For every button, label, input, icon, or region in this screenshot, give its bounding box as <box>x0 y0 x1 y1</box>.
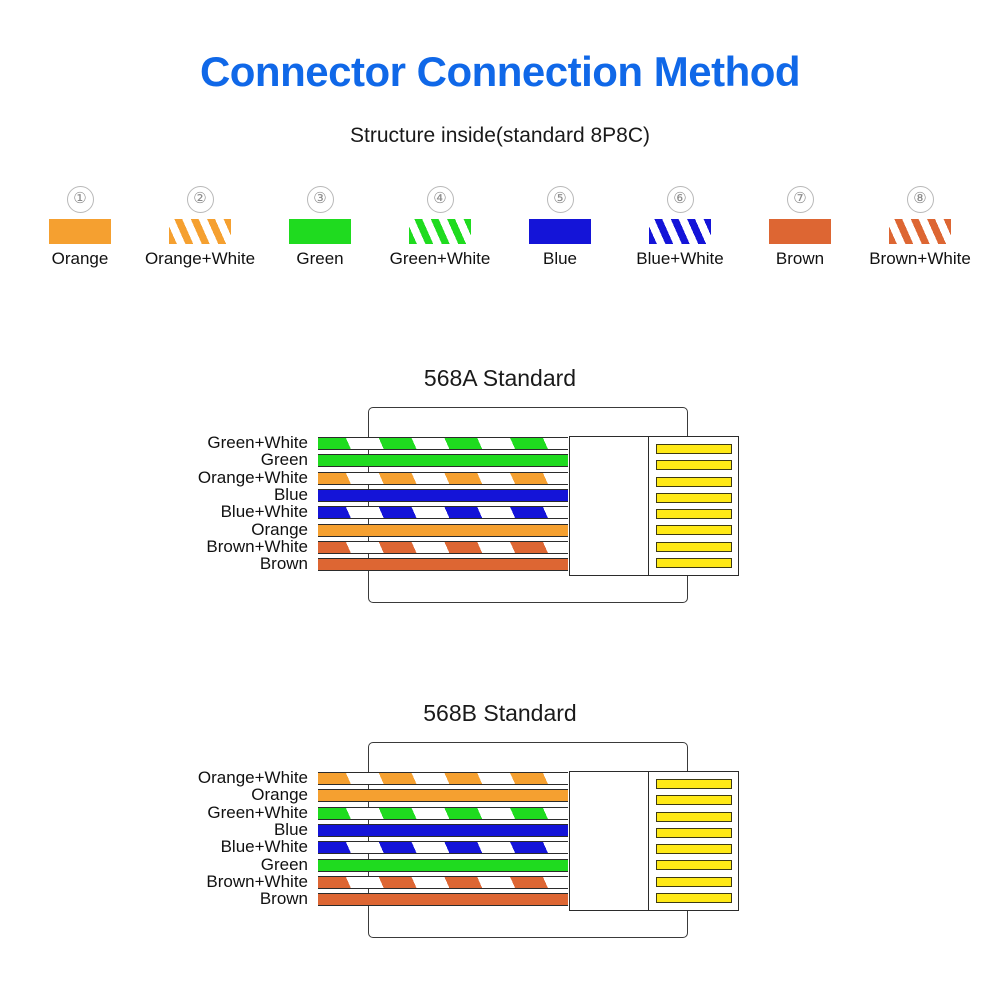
legend-number-badge: ⑦ <box>787 186 814 213</box>
wire-label-7: Brown+White <box>118 540 308 553</box>
wire-label-2: Green <box>118 453 308 466</box>
legend-number-badge: ② <box>187 186 214 213</box>
legend-color-swatch <box>649 219 711 244</box>
gold-pin <box>656 525 732 535</box>
legend-item-orange: ①Orange <box>20 186 140 269</box>
gold-pin <box>656 812 732 822</box>
diagram-568b: 568B StandardOrange+WhiteOrangeGreen+Whi… <box>0 700 1000 960</box>
legend-label: Orange <box>52 249 109 269</box>
wire-bundle <box>318 435 568 575</box>
wire-7 <box>318 541 568 554</box>
diagram-title: 568A Standard <box>0 365 1000 392</box>
legend-color-swatch <box>769 219 831 244</box>
legend-label: Blue+White <box>636 249 723 269</box>
legend-number-badge: ⑥ <box>667 186 694 213</box>
gold-pin-column <box>648 437 738 575</box>
legend-color-swatch <box>889 219 951 244</box>
wire-label-6: Orange <box>118 523 308 536</box>
gold-pin <box>656 477 732 487</box>
wire-1 <box>318 772 568 785</box>
legend-color-swatch <box>409 219 471 244</box>
wire-color-fill <box>318 808 568 819</box>
wire-3 <box>318 807 568 820</box>
legend-item-green: ③Green <box>260 186 380 269</box>
rj45-plug: Green+WhiteGreenOrange+WhiteBlueBlue+Whi… <box>318 407 688 603</box>
gold-pin <box>656 493 732 503</box>
wire-5 <box>318 841 568 854</box>
gold-pin <box>656 893 732 903</box>
pin-block <box>569 771 739 911</box>
page-subtitle: Structure inside(standard 8P8C) <box>0 124 1000 148</box>
gold-pin <box>656 860 732 870</box>
wire-label-5: Blue+White <box>118 505 308 518</box>
wire-label-7: Brown+White <box>118 875 308 888</box>
wire-label-column: Green+WhiteGreenOrange+WhiteBlueBlue+Whi… <box>118 435 308 575</box>
wire-label-1: Orange+White <box>118 771 308 784</box>
wire-label-4: Blue <box>118 488 308 501</box>
wire-color-legend: ①Orange②Orange+White③Green④Green+White⑤B… <box>20 186 980 269</box>
wire-color-fill <box>318 507 568 518</box>
wire-color-fill <box>318 525 568 536</box>
wire-label-8: Brown <box>118 892 308 905</box>
wire-label-1: Green+White <box>118 436 308 449</box>
legend-color-swatch <box>289 219 351 244</box>
wire-1 <box>318 437 568 450</box>
wire-label-3: Green+White <box>118 806 308 819</box>
legend-label: Green <box>296 249 343 269</box>
gold-pin <box>656 877 732 887</box>
legend-label: Orange+White <box>145 249 255 269</box>
wire-7 <box>318 876 568 889</box>
legend-item-blue: ⑤Blue <box>500 186 620 269</box>
legend-item-brown: ⑦Brown <box>740 186 860 269</box>
legend-label: Blue <box>543 249 577 269</box>
wire-label-6: Green <box>118 858 308 871</box>
wire-label-column: Orange+WhiteOrangeGreen+WhiteBlueBlue+Wh… <box>118 770 308 910</box>
legend-number-badge: ③ <box>307 186 334 213</box>
wire-bundle <box>318 770 568 910</box>
wire-color-fill <box>318 542 568 553</box>
legend-item-green-white: ④Green+White <box>380 186 500 269</box>
wire-color-fill <box>318 790 568 801</box>
wire-4 <box>318 824 568 837</box>
gold-pin <box>656 460 732 470</box>
wire-color-fill <box>318 473 568 484</box>
page-title: Connector Connection Method <box>0 48 1000 96</box>
wire-color-fill <box>318 894 568 905</box>
wire-label-8: Brown <box>118 557 308 570</box>
wire-label-4: Blue <box>118 823 308 836</box>
wire-label-3: Orange+White <box>118 471 308 484</box>
legend-item-blue-white: ⑥Blue+White <box>620 186 740 269</box>
gold-pin <box>656 509 732 519</box>
gold-pin-column <box>648 772 738 910</box>
legend-color-swatch <box>169 219 231 244</box>
gold-pin <box>656 828 732 838</box>
wire-8 <box>318 893 568 906</box>
legend-label: Brown <box>776 249 824 269</box>
gold-pin <box>656 844 732 854</box>
wire-color-fill <box>318 825 568 836</box>
wire-6 <box>318 524 568 537</box>
wire-8 <box>318 558 568 571</box>
legend-color-swatch <box>49 219 111 244</box>
pin-block <box>569 436 739 576</box>
wire-color-fill <box>318 773 568 784</box>
legend-number-badge: ⑧ <box>907 186 934 213</box>
gold-pin <box>656 795 732 805</box>
legend-item-brown-white: ⑧Brown+White <box>860 186 980 269</box>
gold-pin <box>656 779 732 789</box>
legend-color-swatch <box>529 219 591 244</box>
diagram-title: 568B Standard <box>0 700 1000 727</box>
legend-number-badge: ⑤ <box>547 186 574 213</box>
gold-pin <box>656 558 732 568</box>
wire-3 <box>318 472 568 485</box>
legend-label: Green+White <box>390 249 491 269</box>
gold-pin <box>656 444 732 454</box>
legend-number-badge: ④ <box>427 186 454 213</box>
wire-color-fill <box>318 438 568 449</box>
wire-color-fill <box>318 877 568 888</box>
wire-2 <box>318 789 568 802</box>
legend-item-orange-white: ②Orange+White <box>140 186 260 269</box>
wire-color-fill <box>318 490 568 501</box>
wire-label-5: Blue+White <box>118 840 308 853</box>
diagram-568a: 568A StandardGreen+WhiteGreenOrange+Whit… <box>0 365 1000 625</box>
rj45-plug: Orange+WhiteOrangeGreen+WhiteBlueBlue+Wh… <box>318 742 688 938</box>
wire-color-fill <box>318 455 568 466</box>
wire-label-2: Orange <box>118 788 308 801</box>
legend-number-badge: ① <box>67 186 94 213</box>
wire-color-fill <box>318 860 568 871</box>
wire-color-fill <box>318 559 568 570</box>
legend-label: Brown+White <box>869 249 971 269</box>
wire-6 <box>318 859 568 872</box>
wire-2 <box>318 454 568 467</box>
gold-pin <box>656 542 732 552</box>
wire-4 <box>318 489 568 502</box>
wire-color-fill <box>318 842 568 853</box>
wire-5 <box>318 506 568 519</box>
